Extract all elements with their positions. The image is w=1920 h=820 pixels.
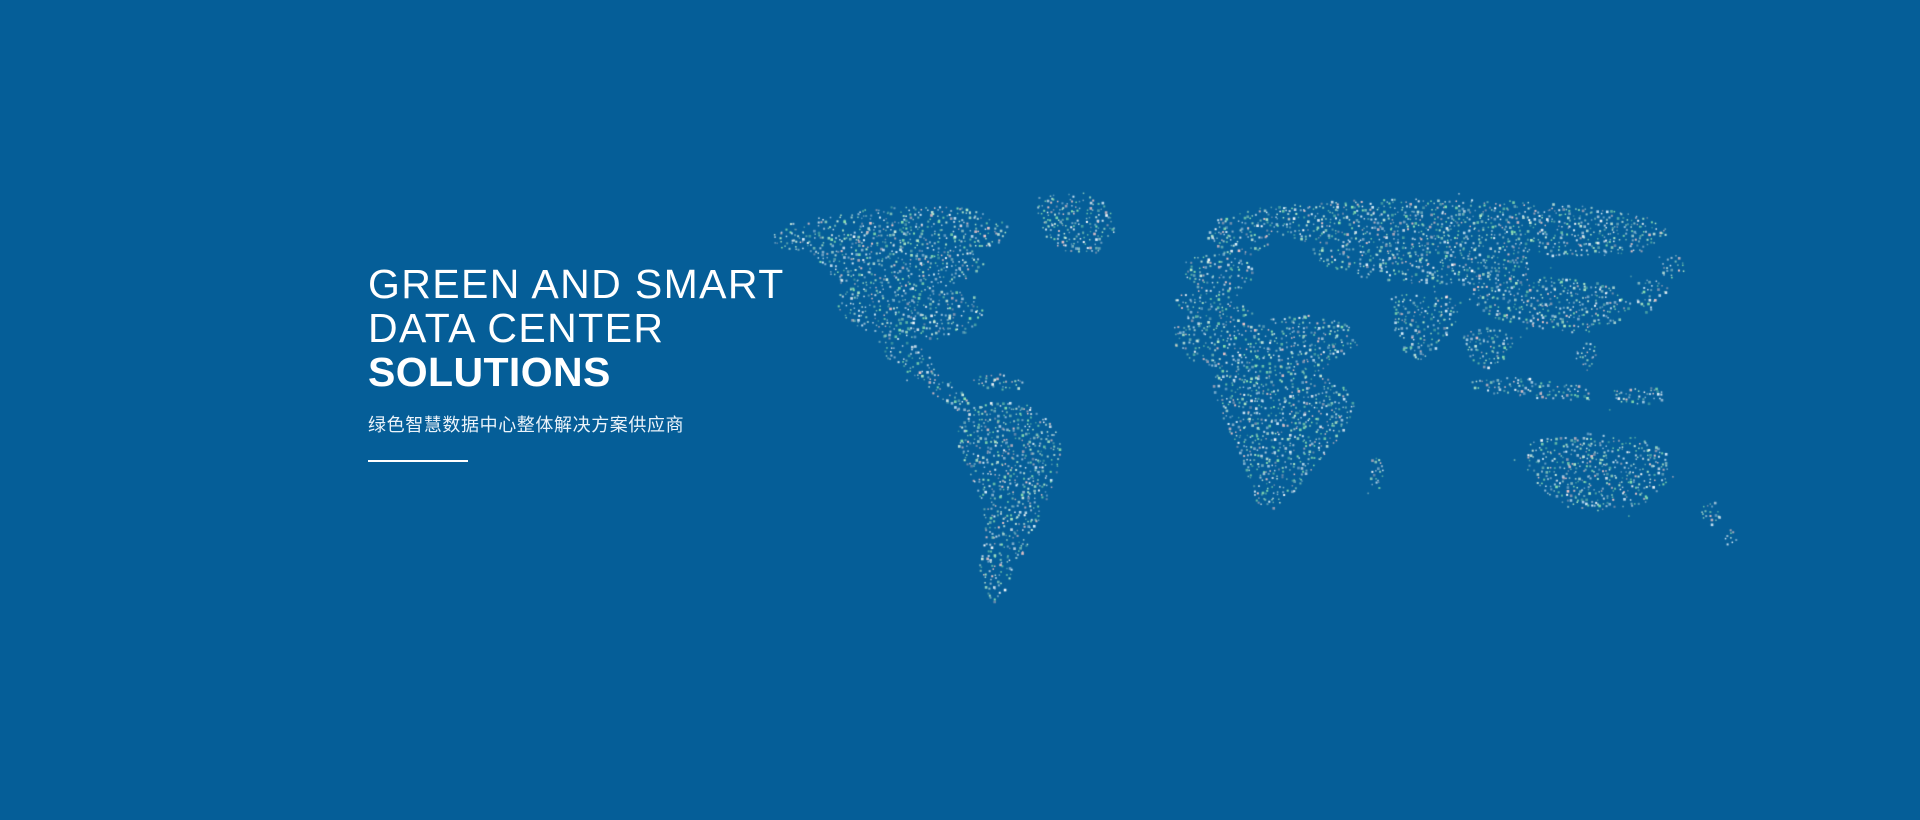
hero-text-block: GREEN AND SMART DATA CENTER SOLUTIONS 绿色… — [368, 262, 1088, 462]
hero-banner: GREEN AND SMART DATA CENTER SOLUTIONS 绿色… — [0, 0, 1920, 820]
hero-subtitle: 绿色智慧数据中心整体解决方案供应商 — [368, 412, 1088, 438]
hero-divider — [368, 460, 468, 462]
headline-line-2: DATA CENTER — [368, 306, 1088, 350]
headline-line-3: SOLUTIONS — [368, 350, 1088, 394]
headline-line-1: GREEN AND SMART — [368, 262, 1088, 306]
